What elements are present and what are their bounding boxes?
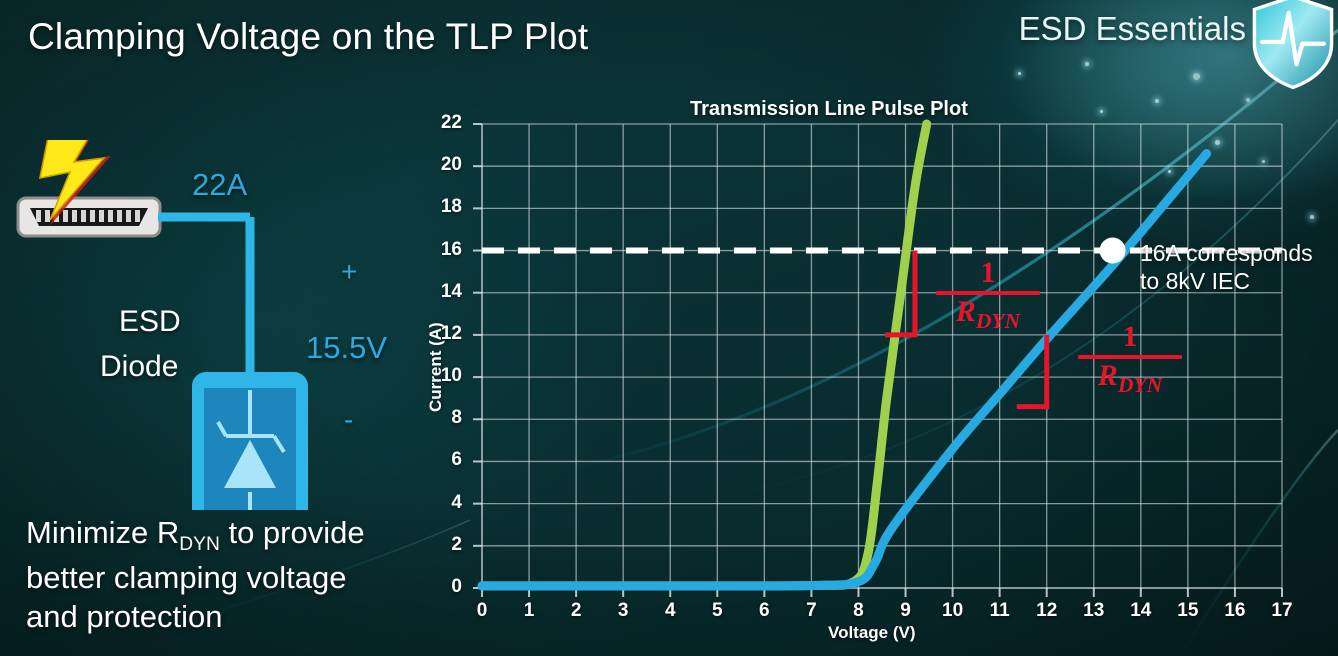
x-tick-label: 16: [1224, 600, 1245, 622]
y-tick-label: 22: [441, 112, 462, 134]
iec-callout: 16A corresponds to 8kV IEC: [1140, 240, 1313, 295]
x-tick-label: 7: [806, 600, 817, 622]
x-tick-label: 13: [1083, 600, 1104, 622]
x-tick-label: 4: [665, 600, 676, 622]
operating-point-marker: [1100, 238, 1126, 264]
slope-label-high-rdyn: 1 RDYN: [1078, 322, 1182, 397]
x-tick-label: 1: [524, 600, 535, 622]
x-tick-label: 10: [942, 600, 963, 622]
x-tick-label: 15: [1177, 600, 1198, 622]
fraction-bar: [1078, 355, 1182, 359]
slide-canvas: Clamping Voltage on the TLP Plot ESD Ess…: [0, 0, 1338, 656]
y-tick-label: 14: [441, 281, 462, 303]
y-tick-label: 20: [441, 154, 462, 176]
y-tick-label: 2: [451, 534, 462, 556]
y-tick-label: 16: [441, 239, 462, 261]
y-tick-label: 10: [441, 365, 462, 387]
x-tick-label: 0: [477, 600, 488, 622]
x-tick-label: 5: [712, 600, 723, 622]
x-tick-label: 12: [1036, 600, 1057, 622]
y-tick-label: 0: [451, 576, 462, 598]
y-tick-label: 8: [451, 407, 462, 429]
y-tick-label: 18: [441, 196, 462, 218]
y-tick-label: 4: [451, 492, 462, 514]
slope-label-low-rdyn: 1 RDYN: [936, 258, 1040, 333]
x-tick-label: 11: [990, 600, 1010, 622]
x-tick-label: 14: [1130, 600, 1151, 622]
x-tick-label: 8: [853, 600, 864, 622]
x-axis-label: Voltage (V): [828, 623, 916, 643]
y-tick-label: 6: [451, 449, 462, 471]
iec-callout-line-1: 16A corresponds: [1140, 240, 1313, 268]
series-low-Rdyn-device: [482, 124, 927, 586]
x-tick-label: 6: [759, 600, 770, 622]
fraction-bar: [936, 291, 1040, 295]
x-tick-label: 3: [618, 600, 629, 622]
x-tick-label: 17: [1271, 600, 1292, 622]
y-tick-label: 12: [441, 323, 462, 345]
x-tick-label: 9: [900, 600, 911, 622]
iec-callout-line-2: to 8kV IEC: [1140, 268, 1313, 296]
x-tick-label: 2: [571, 600, 582, 622]
